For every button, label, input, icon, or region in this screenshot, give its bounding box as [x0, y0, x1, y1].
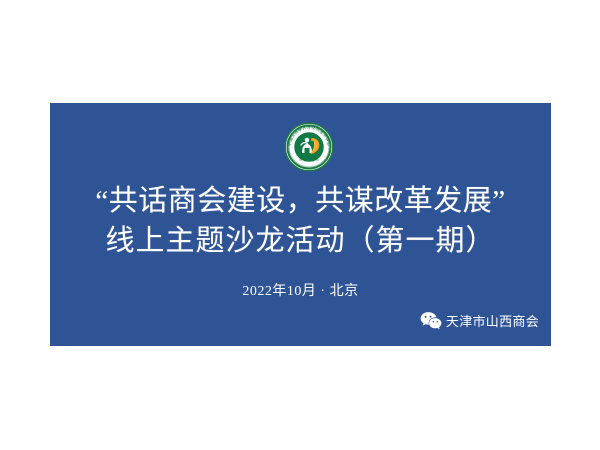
title-line-2: 线上主题沙龙活动（第一期）: [50, 221, 551, 261]
emblem-icon: 中国工商联人才交流服务中心 1995: [284, 122, 334, 172]
organization-logo: 中国工商联人才交流服务中心 1995: [284, 122, 334, 172]
slide-panel: 中国工商联人才交流服务中心 1995 “共话商会建设，共谋改革发展” 线上主题沙…: [50, 103, 551, 346]
event-date-location: 2022年10月 · 北京: [50, 280, 551, 300]
wechat-badge: 天津市山西商会: [420, 311, 539, 330]
slide-title: “共话商会建设，共谋改革发展” 线上主题沙龙活动（第一期）: [50, 181, 551, 261]
wechat-account-name: 天津市山西商会: [446, 311, 539, 330]
svg-text:1995: 1995: [304, 159, 315, 164]
title-line-1: “共话商会建设，共谋改革发展”: [50, 181, 551, 221]
wechat-icon: [420, 311, 442, 330]
slide-canvas: 中国工商联人才交流服务中心 1995 “共话商会建设，共谋改革发展” 线上主题沙…: [0, 0, 600, 450]
